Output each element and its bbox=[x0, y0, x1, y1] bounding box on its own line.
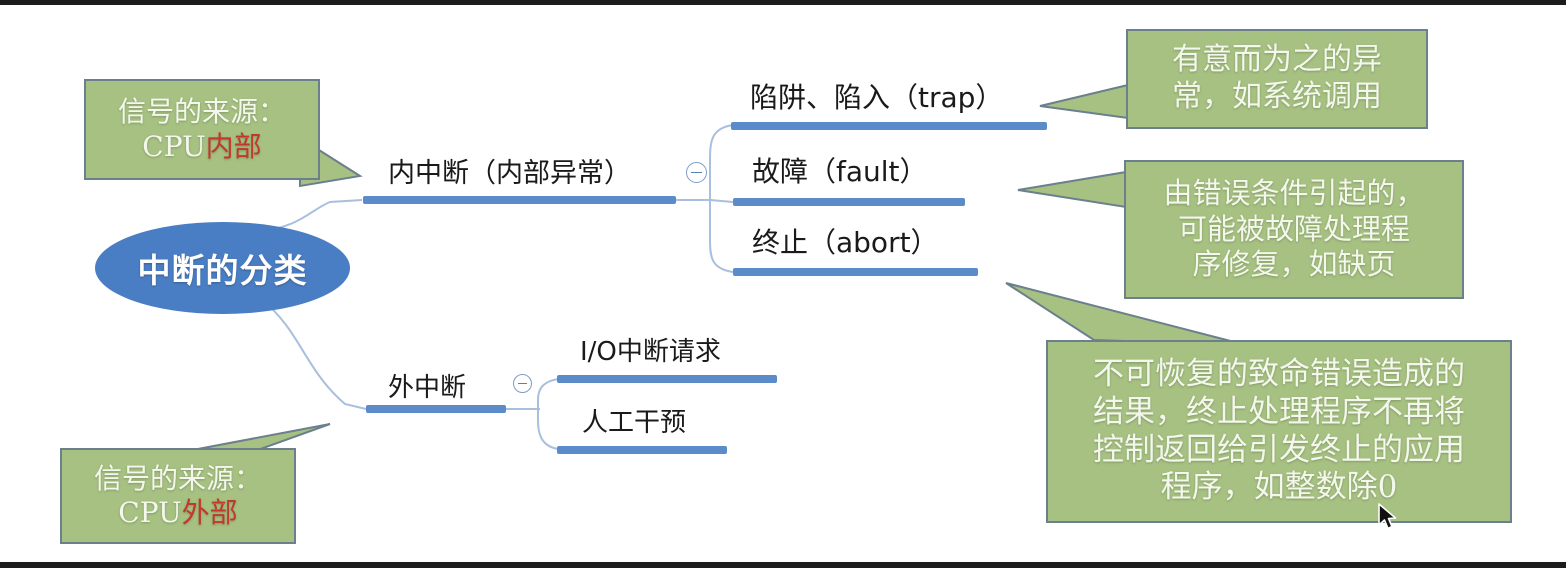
node-bar-abort[interactable] bbox=[733, 268, 978, 276]
callout-source-internal: 信号的来源： CPU内部 bbox=[84, 79, 320, 180]
root-node-label: 中断的分类 bbox=[138, 244, 308, 292]
callout-source-internal-accent: 内部 bbox=[206, 130, 262, 163]
node-label-io[interactable]: I/O中断请求 bbox=[580, 339, 721, 365]
callout-abort-note-line2: 结果，终止处理程序不再将 bbox=[1093, 394, 1465, 432]
callout-source-external: 信号的来源： CPU外部 bbox=[60, 448, 296, 544]
branch-bar-internal[interactable] bbox=[363, 196, 676, 204]
callout-source-external-line1: 信号的来源： bbox=[94, 462, 262, 496]
callout-source-external-prefix: CPU bbox=[118, 496, 181, 529]
callout-fault-note-line2: 可能被故障处理程 bbox=[1178, 212, 1410, 247]
node-bar-fault[interactable] bbox=[733, 198, 965, 206]
collapse-toggle-internal[interactable] bbox=[686, 162, 707, 183]
branch-bar-external[interactable] bbox=[366, 405, 506, 413]
mouse-cursor bbox=[1378, 503, 1400, 533]
mindmap-canvas: 中断的分类 内中断（内部异常） 陷阱、陷入（trap） 故障（fault） 终止… bbox=[0, 0, 1566, 568]
branch-label-external[interactable]: 外中断 bbox=[388, 375, 466, 401]
callout-source-internal-line2: CPU内部 bbox=[142, 130, 261, 164]
node-bar-io[interactable] bbox=[557, 375, 777, 383]
root-node[interactable]: 中断的分类 bbox=[95, 222, 350, 314]
callout-source-external-accent: 外部 bbox=[182, 496, 238, 529]
letterbox-bottom bbox=[0, 562, 1566, 568]
callout-fault-note-line1: 由错误条件引起的， bbox=[1163, 176, 1424, 211]
node-label-manual[interactable]: 人工干预 bbox=[582, 410, 686, 436]
letterbox-top bbox=[0, 0, 1566, 5]
collapse-toggle-external[interactable] bbox=[513, 374, 532, 393]
callout-abort-note-line4: 程序，如整数除0 bbox=[1161, 469, 1398, 507]
callout-trap-note-line1: 有意而为之的异 bbox=[1172, 42, 1382, 79]
callout-source-internal-prefix: CPU bbox=[142, 130, 205, 163]
node-label-trap[interactable]: 陷阱、陷入（trap） bbox=[750, 84, 1003, 112]
callout-trap-note: 有意而为之的异 常，如系统调用 bbox=[1126, 29, 1428, 129]
callout-source-external-line2: CPU外部 bbox=[118, 496, 237, 530]
node-label-abort[interactable]: 终止（abort） bbox=[752, 229, 939, 257]
callout-abort-note-line3: 控制返回给引发终止的应用 bbox=[1093, 432, 1465, 470]
callout-trap-note-line2: 常，如系统调用 bbox=[1172, 79, 1382, 116]
node-label-fault[interactable]: 故障（fault） bbox=[752, 158, 928, 186]
callout-fault-note-line3: 序修复，如缺页 bbox=[1192, 247, 1395, 282]
node-bar-trap[interactable] bbox=[731, 122, 1047, 130]
branch-label-internal[interactable]: 内中断（内部异常） bbox=[388, 160, 631, 187]
callout-fault-note: 由错误条件引起的， 可能被故障处理程 序修复，如缺页 bbox=[1124, 160, 1464, 299]
node-bar-manual[interactable] bbox=[557, 446, 727, 454]
callout-abort-note-line1: 不可恢复的致命错误造成的 bbox=[1093, 356, 1465, 394]
callout-source-internal-line1: 信号的来源： bbox=[118, 95, 286, 129]
callout-abort-note: 不可恢复的致命错误造成的 结果，终止处理程序不再将 控制返回给引发终止的应用 程… bbox=[1046, 340, 1512, 523]
